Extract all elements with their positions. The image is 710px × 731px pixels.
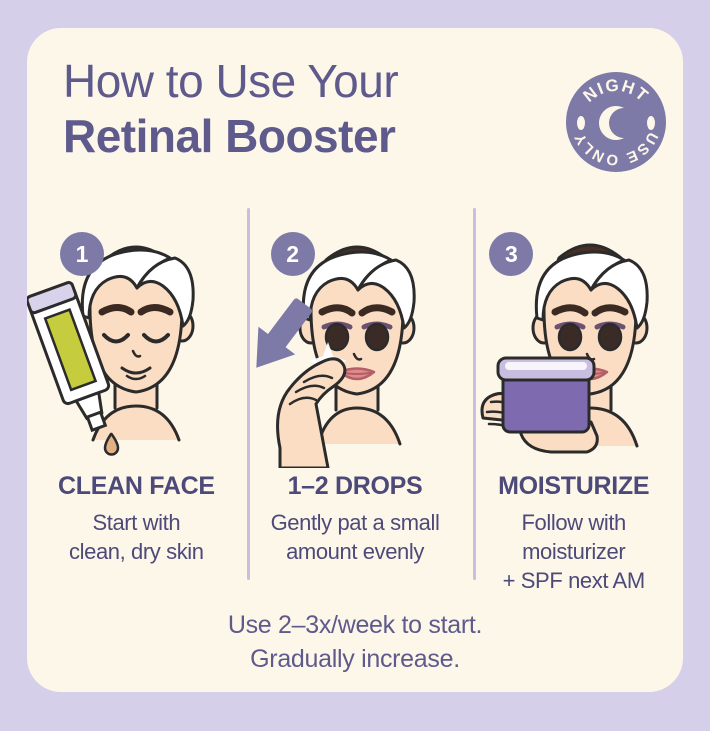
step-1-desc-line-1: Start with	[33, 508, 240, 537]
night-use-only-badge: NIGHT USE ONLY	[564, 70, 668, 174]
step-3-desc-line-2: moisturizer	[470, 537, 677, 566]
infographic-card: How to Use Your Retinal Booster NIGHT US…	[27, 28, 683, 692]
step-3-desc-line-1: Follow with	[470, 508, 677, 537]
step-2-number: 2	[271, 232, 315, 276]
footer-line-2: Gradually increase.	[27, 642, 683, 676]
steps-row: 1 CLEAN FACE Start with clean, dry skin	[27, 196, 683, 596]
step-2-heading: 1–2 DROPS	[252, 472, 459, 501]
badge-right-dot	[647, 116, 655, 130]
moisturizer-jar-icon	[498, 358, 594, 432]
badge-left-dot	[577, 116, 585, 130]
title-line-2: Retinal Booster	[63, 108, 563, 164]
footer-line-1: Use 2–3x/week to start.	[27, 608, 683, 642]
header: How to Use Your Retinal Booster NIGHT US…	[27, 50, 683, 190]
step-2-desc-line-2: amount evenly	[252, 537, 459, 566]
step-1-heading: CLEAN FACE	[33, 472, 240, 501]
step-1-desc-line-2: clean, dry skin	[33, 537, 240, 566]
step-1-number: 1	[60, 232, 104, 276]
step-3-heading: MOISTURIZE	[470, 472, 677, 501]
step-1-description: Start with clean, dry skin	[33, 508, 240, 566]
step-3: 3 MOISTURIZE Follow with moisturizer + S…	[464, 196, 683, 596]
step-3-description: Follow with moisturizer + SPF next AM	[470, 508, 677, 595]
step-1-illustration	[27, 196, 246, 468]
step-3-desc-line-3: + SPF next AM	[470, 566, 677, 595]
step-2-text: 1–2 DROPS Gently pat a small amount even…	[246, 472, 465, 566]
step-1: 1 CLEAN FACE Start with clean, dry skin	[27, 196, 246, 596]
step-1-text: CLEAN FACE Start with clean, dry skin	[27, 472, 246, 566]
step-2-desc-line-1: Gently pat a small	[252, 508, 459, 537]
title-line-1: How to Use Your	[63, 54, 563, 108]
step-3-text: MOISTURIZE Follow with moisturizer + SPF…	[464, 472, 683, 595]
step-2: 2 1–2 DROPS Gently pat a small amount ev…	[246, 196, 465, 596]
page-title: How to Use Your Retinal Booster	[63, 54, 563, 164]
step-2-description: Gently pat a small amount evenly	[252, 508, 459, 566]
footer-note: Use 2–3x/week to start. Gradually increa…	[27, 608, 683, 676]
infographic-stage: How to Use Your Retinal Booster NIGHT US…	[0, 0, 710, 731]
